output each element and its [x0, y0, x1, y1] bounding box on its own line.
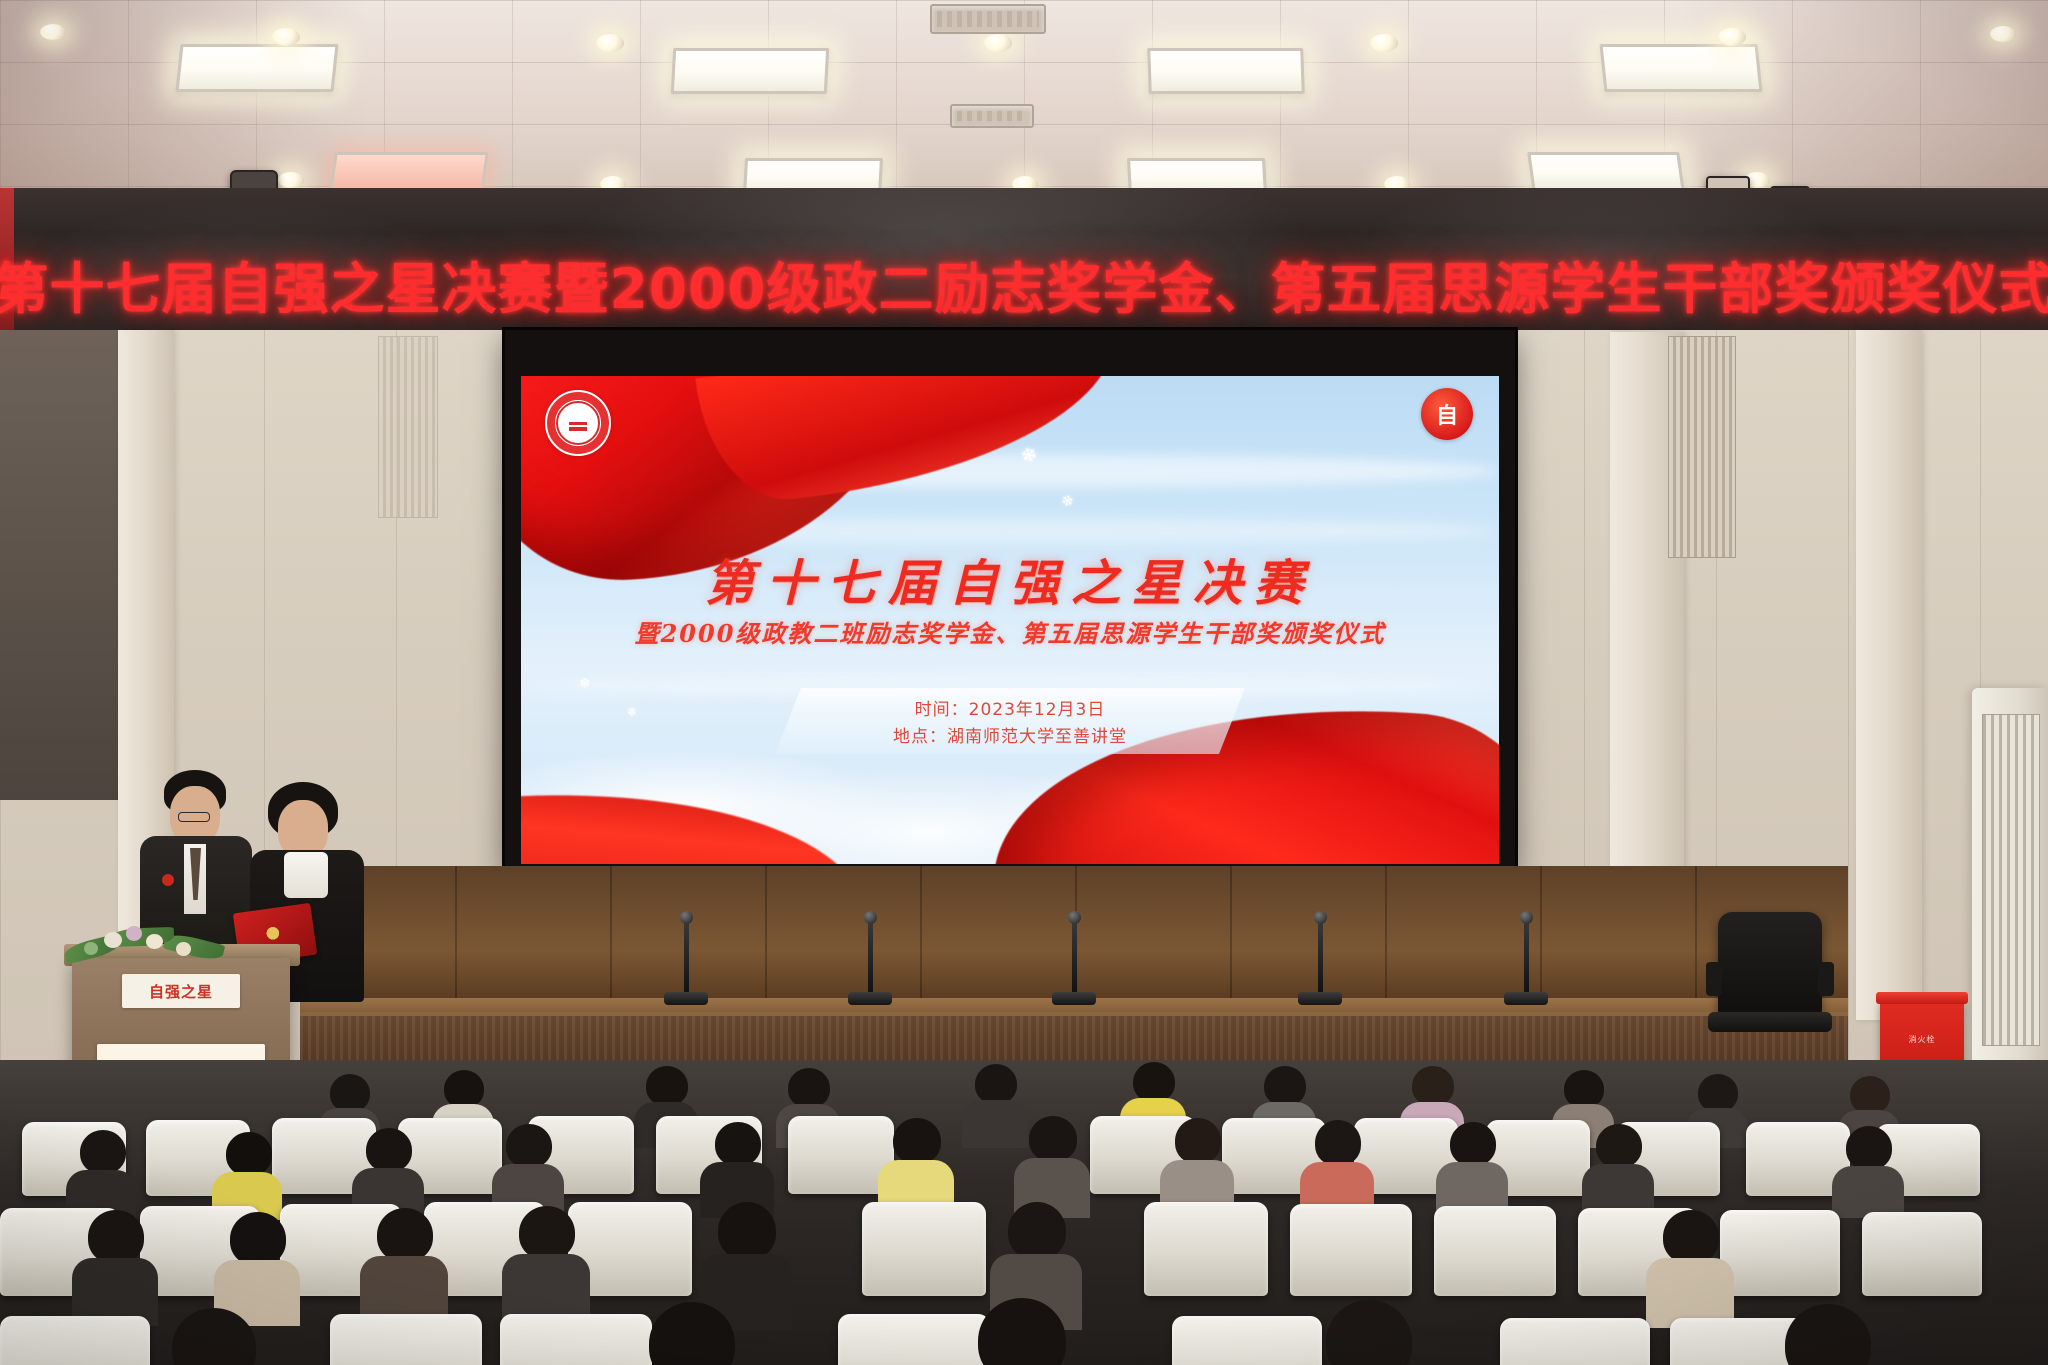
attendee-head	[1315, 1120, 1361, 1166]
auditorium-photo: 第十七届自强之星决赛暨2000级政二励志奖学金、第五届思源学生干部奖颁奖仪式 自…	[0, 0, 2048, 1365]
attendee	[1300, 1120, 1374, 1216]
ceiling-downlight	[596, 34, 624, 52]
attendee	[1300, 1300, 1436, 1365]
microphone-base	[1504, 992, 1548, 1005]
attendee-body	[1832, 1166, 1904, 1218]
fire-cabinet-lid	[1876, 992, 1968, 1004]
ceiling-downlight	[272, 28, 300, 46]
attendee	[1832, 1126, 1904, 1216]
attendee-head	[1846, 1126, 1892, 1170]
dove-icon: ❄	[627, 706, 637, 718]
event-logo-icon: 自	[1421, 388, 1473, 440]
attendee	[212, 1132, 282, 1216]
auditorium-seat	[1144, 1202, 1268, 1296]
ceiling-light-panel	[1527, 152, 1685, 192]
flower-bloom	[104, 932, 122, 948]
auditorium-seat	[1720, 1210, 1840, 1296]
attendee	[72, 1210, 158, 1322]
slide-info-plate: 时间：2023年12月3日 地点：湖南师范大学至善讲堂	[775, 688, 1245, 754]
attendee-head	[1175, 1118, 1221, 1164]
microphone-base	[1052, 992, 1096, 1005]
auditorium-seat	[330, 1314, 482, 1365]
attendee-head	[1264, 1066, 1306, 1106]
host-female-blouse	[284, 852, 328, 898]
attendee	[1646, 1210, 1734, 1326]
table-microphone[interactable]	[1524, 918, 1529, 994]
attendee-head	[1596, 1124, 1642, 1168]
led-banner-text: 第十七届自强之星决赛暨2000级政二励志奖学金、第五届思源学生干部奖颁奖仪式	[0, 244, 2048, 324]
attendee-head	[1326, 1300, 1412, 1365]
stage-chair	[1718, 912, 1822, 1016]
ceiling-downlight	[984, 34, 1012, 52]
university-seal-icon	[545, 390, 611, 456]
table-microphone[interactable]	[1318, 918, 1323, 994]
slide-main-title: 第十七届自强之星决赛	[521, 544, 1499, 615]
attendee-head	[893, 1118, 941, 1164]
attendee-head	[649, 1302, 735, 1365]
chair-armrest	[1818, 962, 1834, 996]
attendee	[624, 1302, 758, 1365]
attendee-head	[506, 1124, 552, 1168]
flower-bloom	[176, 942, 191, 956]
attendee	[148, 1308, 276, 1365]
auditorium-seat	[1434, 1206, 1556, 1296]
chair-armrest	[1706, 962, 1722, 996]
attendee	[66, 1130, 136, 1216]
ceiling-light-panel	[1599, 44, 1762, 92]
microphone-base	[664, 992, 708, 1005]
attendee-head	[230, 1212, 286, 1266]
seal-inner-emblem	[556, 401, 600, 445]
attendee-head	[330, 1074, 370, 1112]
flower-bloom	[84, 942, 98, 955]
led-banner: 第十七届自强之星决赛暨2000级政二励志奖学金、第五届思源学生干部奖颁奖仪式	[0, 236, 2048, 332]
ceiling-light-panel	[1147, 48, 1305, 94]
attendee-head	[377, 1208, 433, 1262]
audience-area	[0, 1060, 2048, 1365]
wall-pillar	[1856, 330, 1922, 1020]
attendee-head	[172, 1308, 256, 1365]
podium-flower-arrangement	[60, 916, 230, 972]
slide-subtitle: 暨2000级政教二班励志奖学金、第五届思源学生干部奖颁奖仪式	[521, 614, 1499, 649]
ceiling-downlight	[40, 24, 66, 40]
attendee-head	[715, 1122, 761, 1166]
attendee	[360, 1208, 448, 1324]
attendee	[952, 1298, 1090, 1365]
ceiling-air-duct	[930, 4, 1046, 34]
auditorium-seat	[862, 1202, 986, 1296]
attendee	[502, 1206, 590, 1324]
slide-time-line: 时间：2023年12月3日	[915, 695, 1106, 720]
ceiling-downlight	[1370, 34, 1398, 52]
ceiling-air-duct	[950, 104, 1034, 128]
projection-screen: 自 ❄ ❄ ❄ ❄ 第十七届自强之星决赛 暨2000级政教二班励志奖学金、第五届…	[521, 376, 1499, 864]
attendee	[352, 1128, 424, 1216]
auditorium-seat	[1862, 1212, 1982, 1296]
attendee	[1582, 1124, 1654, 1216]
attendee-head	[1133, 1062, 1175, 1102]
attendee-head	[1663, 1210, 1719, 1264]
attendee	[1760, 1304, 1894, 1365]
attendee-head	[1564, 1070, 1604, 1108]
attendee-head	[1412, 1066, 1454, 1106]
attendee	[1436, 1122, 1508, 1216]
dove-icon: ❄	[1060, 493, 1075, 510]
ceiling-downlight	[1990, 26, 2016, 42]
podium-sign: 自强之星	[122, 974, 240, 1008]
lapel-badge-icon	[162, 874, 174, 886]
attendee	[214, 1212, 300, 1322]
attendee-head	[88, 1210, 144, 1264]
ceiling-light-panel	[671, 48, 829, 94]
attendee-head	[444, 1070, 484, 1108]
dove-icon: ❄	[579, 676, 591, 690]
ceiling-light-panel	[175, 44, 338, 92]
attendee-head	[978, 1298, 1066, 1365]
glasses-icon	[178, 812, 210, 822]
attendee-head	[788, 1068, 830, 1108]
attendee-head	[1850, 1076, 1890, 1114]
attendee-head	[1450, 1122, 1496, 1166]
attendee-head	[80, 1130, 126, 1174]
table-microphone[interactable]	[684, 918, 689, 994]
microphone-base	[1298, 992, 1342, 1005]
ac-grille	[1982, 714, 2040, 1046]
ceiling-light-panel	[329, 152, 489, 192]
auditorium-seat	[1290, 1204, 1412, 1296]
table-microphone[interactable]	[868, 918, 873, 994]
attendee	[1014, 1116, 1090, 1216]
ceiling-downlight	[1718, 28, 1746, 46]
attendee-head	[226, 1132, 272, 1176]
flower-bloom	[146, 934, 163, 949]
slide-place-line: 地点：湖南师范大学至善讲堂	[893, 722, 1127, 747]
flower-bloom	[126, 926, 142, 941]
auditorium-seat	[1500, 1318, 1650, 1365]
attendee-head	[1008, 1202, 1066, 1260]
table-microphone[interactable]	[1072, 918, 1077, 994]
wall-vent	[1668, 336, 1736, 558]
attendee-head	[519, 1206, 575, 1260]
attendee-head	[975, 1064, 1017, 1104]
attendee-head	[718, 1202, 776, 1260]
fire-cabinet-label-top: 消火栓	[1880, 1034, 1964, 1045]
attendee-head	[1029, 1116, 1077, 1162]
microphone-base	[848, 992, 892, 1005]
wall-vent	[378, 336, 438, 518]
attendee-head	[1698, 1074, 1738, 1112]
attendee-head	[1785, 1304, 1871, 1365]
left-dark-wall	[0, 330, 118, 800]
attendee-head	[366, 1128, 412, 1172]
ceiling-downlight	[278, 172, 304, 188]
auditorium-seat	[0, 1316, 150, 1365]
attendee-head	[646, 1066, 688, 1106]
